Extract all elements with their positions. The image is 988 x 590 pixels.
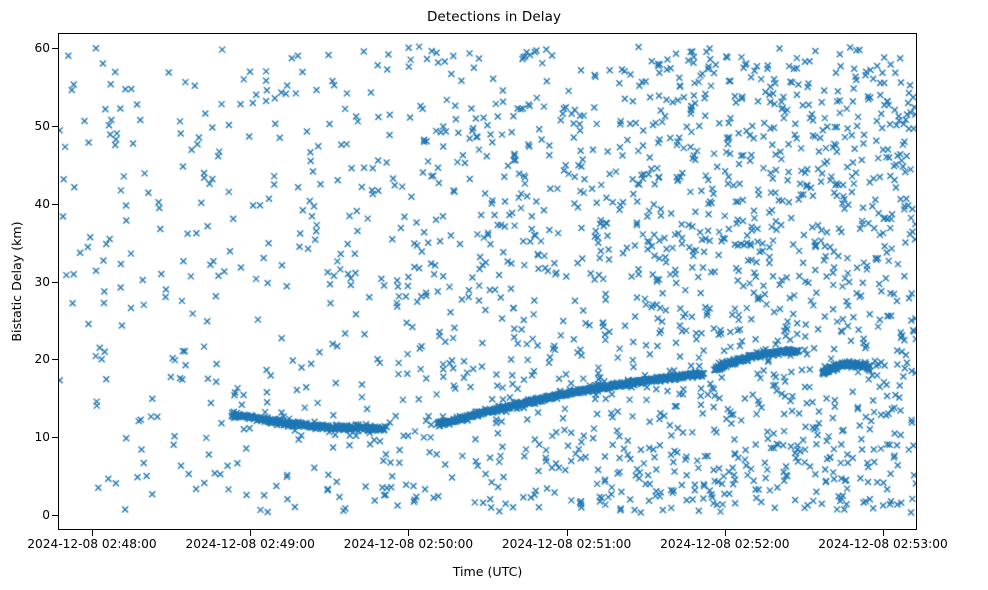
- x-tick-mark: [883, 530, 884, 536]
- x-tick-mark: [92, 530, 93, 536]
- x-tick-label: 2024-12-08 02:51:00: [502, 537, 631, 551]
- x-tick-label: 2024-12-08 02:48:00: [27, 537, 156, 551]
- x-tick-label: 2024-12-08 02:52:00: [660, 537, 789, 551]
- x-tick-mark: [250, 530, 251, 536]
- scatter-plot-canvas: [59, 34, 916, 529]
- figure-canvas: Detections in Delay 0102030405060 Bistat…: [0, 0, 988, 590]
- plot-area[interactable]: [58, 33, 917, 530]
- x-tick-mark: [725, 530, 726, 536]
- y-tick-mark: [52, 48, 58, 49]
- y-tick-mark: [52, 515, 58, 516]
- y-tick-mark: [52, 359, 58, 360]
- x-axis-tick-labels: 2024-12-08 02:48:002024-12-08 02:49:0020…: [0, 530, 988, 556]
- y-tick-mark: [52, 282, 58, 283]
- x-tick-label: 2024-12-08 02:53:00: [818, 537, 947, 551]
- x-tick-label: 2024-12-08 02:49:00: [185, 537, 314, 551]
- y-axis-label: Bistatic Delay (km): [9, 33, 24, 530]
- x-axis-label: Time (UTC): [58, 564, 917, 579]
- chart-title: Detections in Delay: [0, 9, 988, 25]
- y-tick-mark: [52, 204, 58, 205]
- x-tick-label: 2024-12-08 02:50:00: [344, 537, 473, 551]
- y-axis-tick-labels: 0102030405060: [0, 33, 50, 530]
- y-tick-mark: [52, 126, 58, 127]
- y-tick-mark: [52, 437, 58, 438]
- x-tick-mark: [567, 530, 568, 536]
- x-tick-mark: [408, 530, 409, 536]
